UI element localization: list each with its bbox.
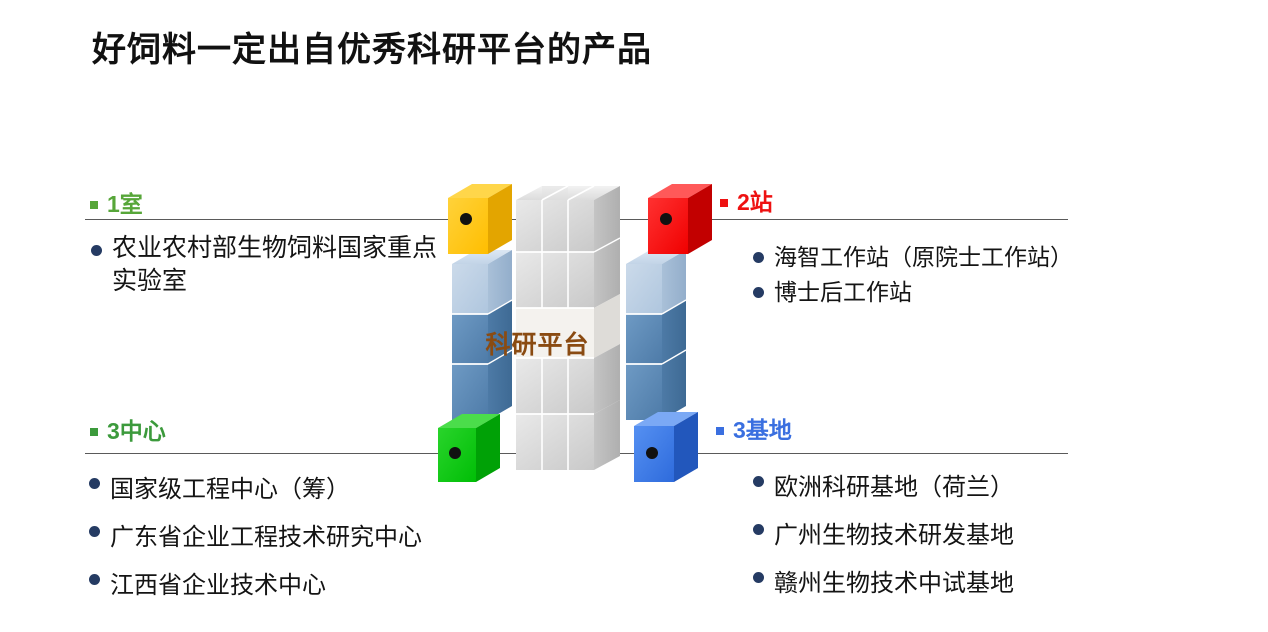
square-bullet-icon (720, 199, 728, 207)
list-item: 国家级工程中心（筹） (88, 466, 508, 514)
heading-1shi: 1室 (90, 185, 143, 219)
list-2zhan: 海智工作站（原院士工作站） 博士后工作站 (752, 240, 1172, 310)
yellow-cube-connector-dot (460, 213, 472, 225)
center-gray-cube-stack (516, 186, 620, 470)
page-title: 好饲料一定出自优秀科研平台的产品 (92, 22, 652, 71)
yellow-cube (448, 184, 512, 254)
list-item: 赣州生物技术中试基地 (752, 560, 1172, 608)
square-bullet-icon (90, 201, 98, 209)
list-3zhongxin: 国家级工程中心（筹） 广东省企业工程技术研究中心 江西省企业技术中心 (88, 466, 508, 610)
list-1shi: 农业农村部生物饲料国家重点实验室 (90, 232, 450, 299)
research-platform-cube-diagram: 科研平台 (430, 180, 730, 485)
heading-3jidi: 3基地 (716, 411, 792, 445)
list-item: 欧洲科研基地（荷兰） (752, 464, 1172, 512)
square-bullet-icon (90, 428, 98, 436)
red-cube-connector-dot (660, 213, 672, 225)
list-item: 农业农村部生物饲料国家重点实验室 (90, 232, 450, 299)
green-cube-connector-dot (449, 447, 461, 459)
list-item: 博士后工作站 (752, 275, 1172, 310)
blue-cube (634, 412, 698, 482)
heading-3zhongxin: 3中心 (90, 412, 166, 446)
blue-cube-connector-dot (646, 447, 658, 459)
list-item: 海智工作站（原院士工作站） (752, 240, 1172, 275)
left-blue-cube-stack (452, 250, 512, 420)
right-blue-cube-stack (626, 250, 686, 420)
heading-1shi-label: 1室 (107, 185, 143, 219)
list-3jidi: 欧洲科研基地（荷兰） 广州生物技术研发基地 赣州生物技术中试基地 (752, 464, 1172, 608)
heading-3jidi-label: 3基地 (733, 411, 792, 445)
list-item: 广东省企业工程技术研究中心 (88, 514, 508, 562)
heading-2zhan-label: 2站 (737, 183, 773, 217)
heading-2zhan: 2站 (720, 183, 773, 217)
square-bullet-icon (716, 427, 724, 435)
heading-3zhongxin-label: 3中心 (107, 412, 166, 446)
list-item: 江西省企业技术中心 (88, 562, 508, 610)
list-item: 广州生物技术研发基地 (752, 512, 1172, 560)
red-cube (648, 184, 712, 254)
